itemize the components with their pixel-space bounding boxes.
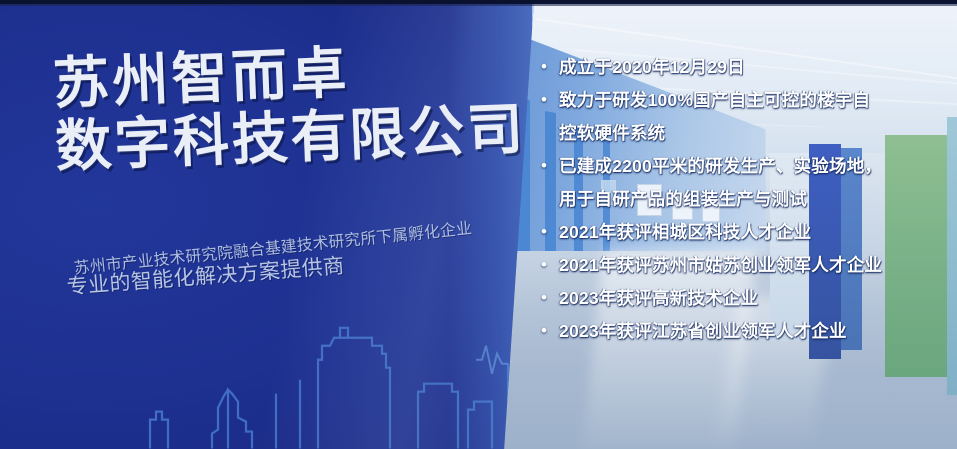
bullet-marker-icon: • xyxy=(541,151,559,181)
list-item: • 已建成2200平米的研发生产、实验场地， xyxy=(541,151,945,181)
list-item-text: 2021年获评苏州市姑苏创业领军人才企业 xyxy=(559,250,945,280)
list-item-text: 已建成2200平米的研发生产、实验场地， xyxy=(559,151,945,181)
bullet-marker-icon: • xyxy=(541,283,559,313)
company-name-sign: 苏州智而卓 数字科技有限公司 xyxy=(52,35,546,178)
list-item-continuation: 用于自研产品的组装生产与测试 xyxy=(541,184,945,214)
bullet-marker-icon: • xyxy=(541,217,559,247)
list-item: • 2023年获评高新技术企业 xyxy=(541,283,945,313)
signage-wall: 苏州智而卓 数字科技有限公司 苏州市产业技术研究院融合基建技术研究所下属孵化企业… xyxy=(0,0,534,449)
list-item-text-continued: 控软硬件系统 xyxy=(559,118,945,148)
bullet-marker-icon: • xyxy=(541,52,559,82)
list-item-text-continued: 用于自研产品的组装生产与测试 xyxy=(559,184,945,214)
sign-line-1-text: 苏州智而卓 xyxy=(52,41,351,115)
slide-root: 苏州智而卓 数字科技有限公司 苏州市产业技术研究院融合基建技术研究所下属孵化企业… xyxy=(0,0,957,449)
list-item-text: 2023年获评江苏省创业领军人才企业 xyxy=(559,316,945,346)
list-item: • 致力于研发100%国产自主可控的楼宇自 xyxy=(541,85,945,115)
list-item-text: 致力于研发100%国产自主可控的楼宇自 xyxy=(559,85,945,115)
list-item-continuation: 控软硬件系统 xyxy=(541,118,945,148)
list-item-text: 成立于2020年12月29日 xyxy=(559,52,945,82)
bullet-marker-icon: • xyxy=(541,316,559,346)
list-item: • 2021年获评苏州市姑苏创业领军人才企业 xyxy=(541,250,945,280)
bullet-marker-icon: • xyxy=(541,85,559,115)
highlights-list: • 成立于2020年12月29日 • 致力于研发100%国产自主可控的楼宇自 控… xyxy=(541,52,945,349)
list-item: • 2021年获评相城区科技人才企业 xyxy=(541,217,945,247)
list-item: • 2023年获评江苏省创业领军人才企业 xyxy=(541,316,945,346)
bullet-marker-icon: • xyxy=(541,250,559,280)
list-item-text: 2023年获评高新技术企业 xyxy=(559,283,945,313)
list-item: • 成立于2020年12月29日 xyxy=(541,52,945,82)
list-item-text: 2021年获评相城区科技人才企业 xyxy=(559,217,945,247)
corridor-far-edge xyxy=(947,117,957,395)
top-letterbox-bar-secondary xyxy=(0,4,957,6)
